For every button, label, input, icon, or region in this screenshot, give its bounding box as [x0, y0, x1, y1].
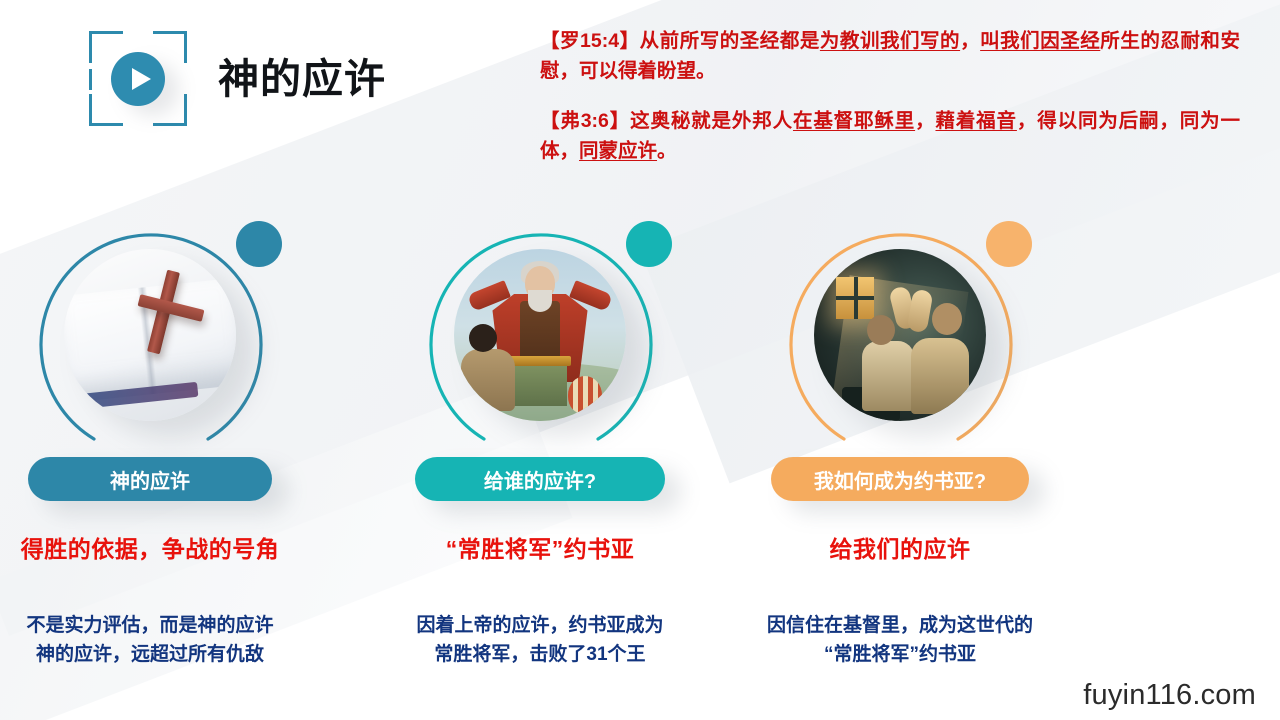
column-body-line-2: 常胜将军，击败了31个王 — [340, 640, 740, 669]
verse-rom-15-4: 【罗15:4】从前所写的圣经都是为教训我们写的，叫我们因圣经所生的忍耐和安慰，可… — [540, 26, 1240, 86]
verse-segment: 【弗3:6】这奥秘就是外邦人 — [540, 110, 793, 132]
verse-segment: ， — [960, 30, 980, 52]
verse-segment: ， — [915, 110, 935, 132]
verse-segment-underlined: 在基督耶稣里 — [793, 110, 915, 132]
circle-graphic-1 — [20, 205, 280, 473]
content-column-3: 我如何成为约书亚? 给我们的应许 因信住在基督里，成为这世代的 “常胜将军”约书… — [700, 205, 1100, 669]
verse-segment: 【罗15:4】从前所写的圣经都是 — [540, 30, 820, 52]
column-body-line-1: 因着上帝的应许，约书亚成为 — [340, 611, 740, 640]
column-headline-2: “常胜将军”约书亚 — [340, 530, 740, 564]
content-column-2: 给谁的应许? “常胜将军”约书亚 因着上帝的应许，约书亚成为 常胜将军，击败了3… — [340, 205, 740, 669]
ring-accent-dot-2 — [626, 221, 672, 267]
ring-accent-dot-1 — [236, 221, 282, 267]
content-column-1: 神的应许 得胜的依据，争战的号角 不是实力评估，而是神的应许 神的应许，远超过所… — [0, 205, 350, 669]
logo-mark — [89, 31, 187, 126]
page-title: 神的应许 — [218, 45, 386, 105]
column-headline-1: 得胜的依据，争战的号角 — [0, 530, 350, 564]
photo-two-people-praying-dark-room — [814, 249, 986, 421]
verse-segment-underlined: 藉着福音 — [935, 110, 1016, 132]
pill-label-2[interactable]: 给谁的应许? — [415, 457, 665, 501]
photo-open-bible-with-cross — [64, 249, 236, 421]
ring-accent-dot-3 — [986, 221, 1032, 267]
verse-segment: 。 — [657, 140, 677, 162]
verse-eph-3-6: 【弗3:6】这奥秘就是外邦人在基督耶稣里，藉着福音，得以同为后嗣，同为一体，同蒙… — [540, 106, 1240, 166]
verse-segment-underlined: 为教训我们写的 — [820, 30, 960, 52]
scripture-verses: 【罗15:4】从前所写的圣经都是为教训我们写的，叫我们因圣经所生的忍耐和安慰，可… — [540, 26, 1240, 166]
column-body-3: 因信住在基督里，成为这世代的 “常胜将军”约书亚 — [700, 611, 1100, 669]
column-body-line-1: 因信住在基督里，成为这世代的 — [700, 611, 1100, 640]
circle-graphic-3 — [770, 205, 1030, 473]
column-body-line-2: 神的应许，远超过所有仇敌 — [0, 640, 350, 669]
column-body-line-1: 不是实力评估，而是神的应许 — [0, 611, 350, 640]
column-body-2: 因着上帝的应许，约书亚成为 常胜将军，击败了31个王 — [340, 611, 740, 669]
photo-biblical-figure-raised-arms — [454, 249, 626, 421]
circle-graphic-2 — [410, 205, 670, 473]
verse-segment-underlined: 同蒙应许 — [579, 140, 657, 162]
watermark: fuyin116.com — [1083, 679, 1256, 712]
column-headline-3: 给我们的应许 — [700, 530, 1100, 564]
pill-label-3[interactable]: 我如何成为约书亚? — [771, 457, 1029, 501]
verse-segment-underlined: 叫我们因圣经 — [980, 30, 1100, 52]
column-body-1: 不是实力评估，而是神的应许 神的应许，远超过所有仇敌 — [0, 611, 350, 669]
pill-label-1[interactable]: 神的应许 — [28, 457, 272, 501]
column-body-line-2: “常胜将军”约书亚 — [700, 640, 1100, 669]
play-button-icon — [111, 52, 165, 106]
